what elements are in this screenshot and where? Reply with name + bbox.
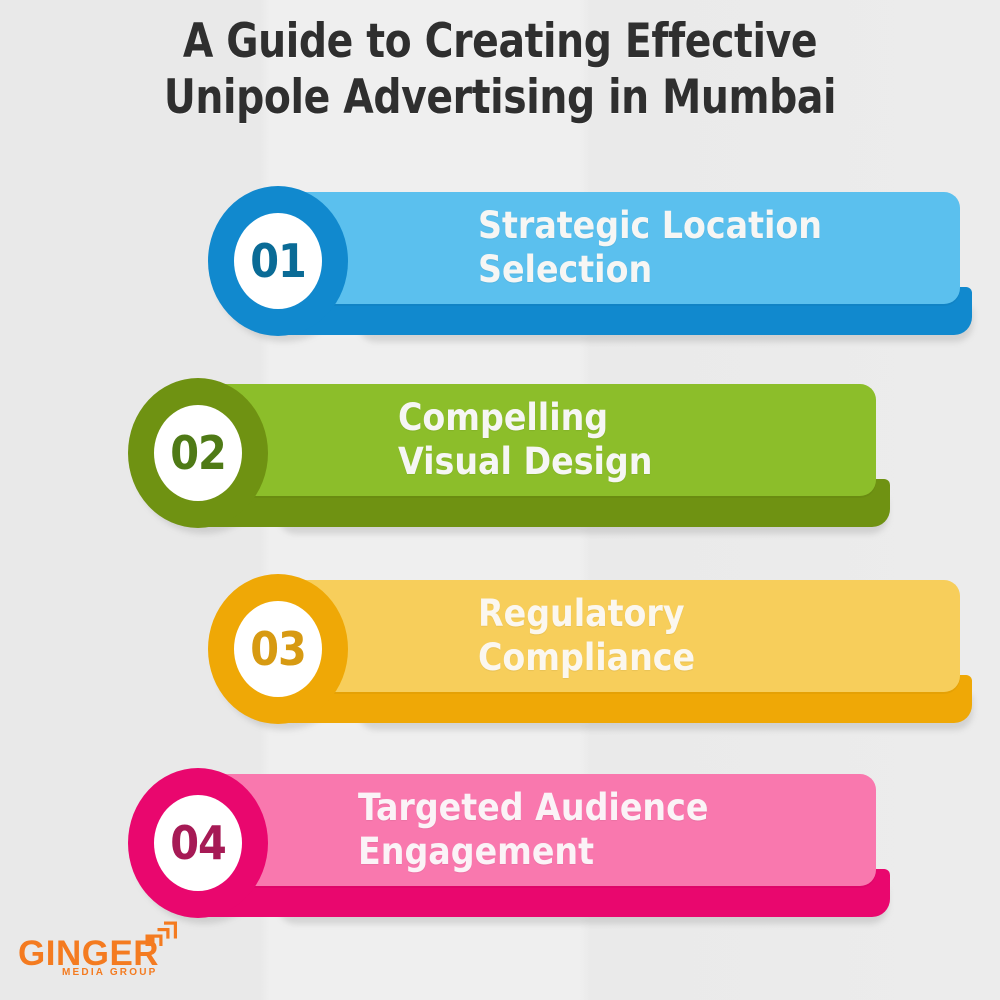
step-badge-inner-2: 02 (154, 405, 242, 501)
step-badge-4[interactable]: 04 (128, 768, 268, 918)
step-bar-3[interactable]: Regulatory Compliance (288, 580, 960, 692)
page-title-line-2: Unipole Advertising in Mumbai (35, 70, 965, 126)
step-badge-2[interactable]: 02 (128, 378, 268, 528)
step-badge-inner-4: 04 (154, 795, 242, 891)
step-label-3: Regulatory Compliance (288, 592, 695, 680)
step-label-1: Strategic Location Selection (288, 204, 822, 292)
step-label-2: Compelling Visual Design (208, 396, 652, 484)
brand-logo[interactable]: GINGER MEDIA GROUP (18, 918, 198, 982)
step-bar-4[interactable]: Targeted Audience Engagement (208, 774, 876, 886)
brand-logo-wordmark: GINGER (18, 936, 159, 971)
brand-logo-subtitle: MEDIA GROUP (62, 968, 158, 978)
step-label-4: Targeted Audience Engagement (208, 786, 708, 874)
step-badge-inner-3: 03 (234, 601, 322, 697)
step-badge-1[interactable]: 01 (208, 186, 348, 336)
step-number-4: 04 (170, 820, 226, 866)
step-number-3: 03 (250, 626, 306, 672)
step-number-2: 02 (170, 430, 226, 476)
step-bar-2[interactable]: Compelling Visual Design (208, 384, 876, 496)
ginger-media-group-mark-icon (144, 920, 178, 950)
page-title-line-1: A Guide to Creating Effective (35, 14, 965, 70)
step-number-1: 01 (250, 238, 306, 284)
step-bar-1[interactable]: Strategic Location Selection (288, 192, 960, 304)
page-title: A Guide to Creating Effective Unipole Ad… (35, 14, 965, 126)
step-badge-3[interactable]: 03 (208, 574, 348, 724)
step-badge-inner-1: 01 (234, 213, 322, 309)
